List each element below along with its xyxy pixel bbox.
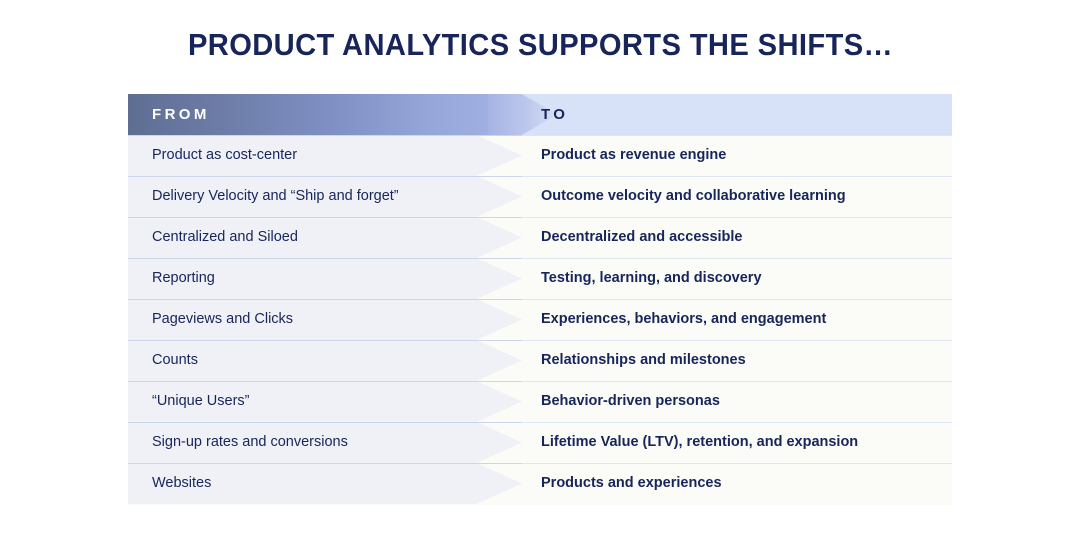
table-body: Product as cost-centerProduct as revenue…: [128, 135, 952, 504]
cell-from: Pageviews and Clicks: [152, 299, 293, 340]
table-row: Product as cost-centerProduct as revenue…: [128, 135, 952, 176]
cell-to: Testing, learning, and discovery: [541, 258, 762, 299]
page-title: PRODUCT ANALYTICS SUPPORTS THE SHIFTS…: [32, 27, 1048, 63]
cell-to: Product as revenue engine: [541, 135, 726, 176]
cell-from: Reporting: [152, 258, 215, 299]
cell-from: Sign-up rates and conversions: [152, 422, 348, 463]
cell-from: Counts: [152, 340, 198, 381]
cell-to: Decentralized and accessible: [541, 217, 743, 258]
table-row: ReportingTesting, learning, and discover…: [128, 258, 952, 299]
header-to-band: [553, 94, 952, 135]
table-row: CountsRelationships and milestones: [128, 340, 952, 381]
table-header-row: FROM TO: [128, 94, 952, 135]
cell-to: Experiences, behaviors, and engagement: [541, 299, 826, 340]
cell-from: Centralized and Siloed: [152, 217, 298, 258]
cell-to: Relationships and milestones: [541, 340, 746, 381]
table-row: Delivery Velocity and “Ship and forget”O…: [128, 176, 952, 217]
column-header-from: FROM: [152, 94, 210, 135]
cell-from: Product as cost-center: [152, 135, 297, 176]
table-row: WebsitesProducts and experiences: [128, 463, 952, 504]
cell-to: Outcome velocity and collaborative learn…: [541, 176, 846, 217]
cell-to: Behavior-driven personas: [541, 381, 720, 422]
cell-to: Products and experiences: [541, 463, 722, 504]
cell-from: Websites: [152, 463, 211, 504]
table-row: Sign-up rates and conversionsLifetime Va…: [128, 422, 952, 463]
cell-from: “Unique Users”: [152, 381, 250, 422]
slide-canvas: PRODUCT ANALYTICS SUPPORTS THE SHIFTS… F…: [0, 0, 1081, 548]
table-row: Centralized and SiloedDecentralized and …: [128, 217, 952, 258]
table-row: “Unique Users”Behavior-driven personas: [128, 381, 952, 422]
cell-from: Delivery Velocity and “Ship and forget”: [152, 176, 399, 217]
table-row: Pageviews and ClicksExperiences, behavio…: [128, 299, 952, 340]
column-header-to: TO: [541, 94, 568, 135]
shift-comparison-table: FROM TO Product as cost-centerProduct as…: [128, 94, 952, 505]
cell-to: Lifetime Value (LTV), retention, and exp…: [541, 422, 858, 463]
